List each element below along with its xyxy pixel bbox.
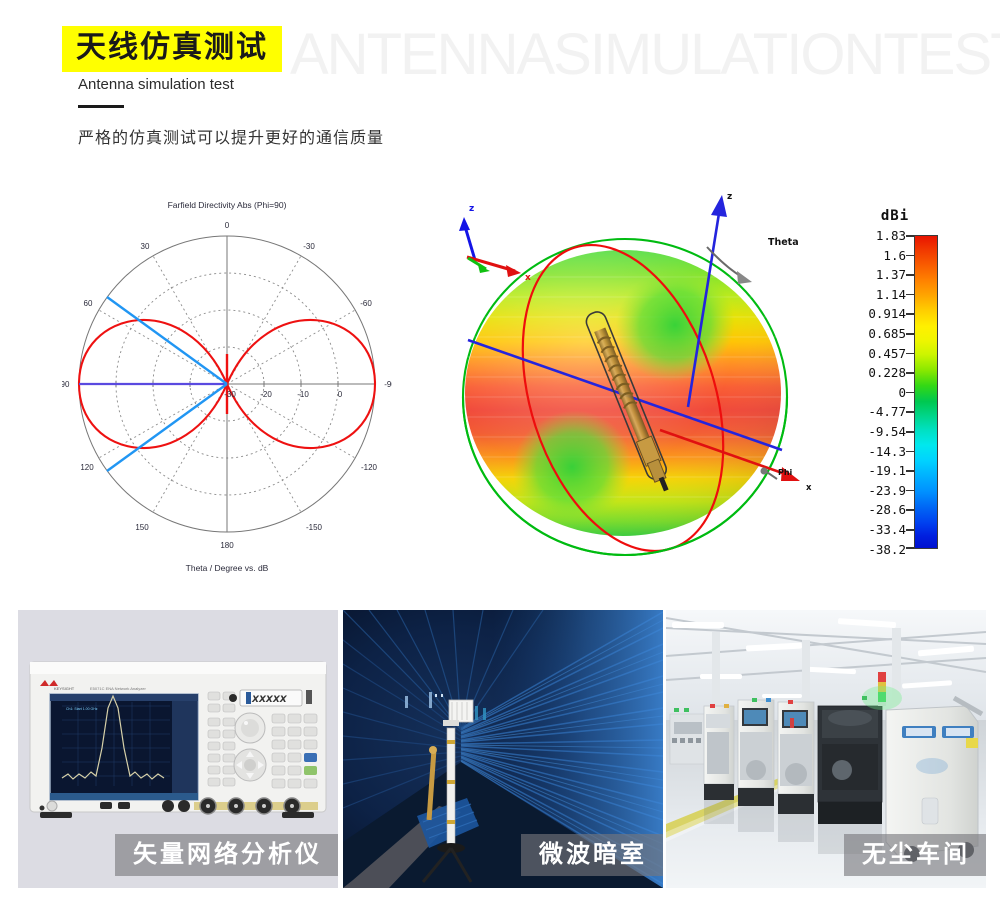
svg-text:0: 0 (225, 221, 230, 230)
svg-text:z: z (469, 204, 474, 214)
page-title: 天线仿真测试 (62, 26, 282, 72)
colorbar-title: dBi (852, 208, 938, 224)
svg-text:-30: -30 (224, 390, 236, 399)
svg-text:-10: -10 (297, 390, 309, 399)
polar-chart-title: Farfield Directivity Abs (Phi=90) (62, 200, 392, 210)
page-subtitle-english: Antenna simulation test (78, 76, 234, 93)
svg-text:180: 180 (220, 541, 234, 550)
svg-text:-60: -60 (360, 299, 372, 308)
svg-text:90: 90 (62, 380, 70, 389)
svg-text:0: 0 (338, 390, 343, 399)
title-divider (78, 105, 124, 108)
colorbar-tick: 1.37 (828, 269, 906, 289)
colorbar-tick: -19.1 (828, 465, 906, 485)
colorbar-tick: -4.77 (828, 406, 906, 426)
svg-text:60: 60 (84, 299, 93, 308)
colorbar-tick: 1.83 (828, 230, 906, 250)
svg-text:x: x (806, 483, 812, 493)
colorbar-tick: -38.2 (828, 544, 906, 564)
panel-caption: 无尘车间 (844, 834, 986, 876)
colorbar-tick: -33.4 (828, 524, 906, 544)
panel-vector-network-analyzer[interactable]: KEYSIGHT E5071C ENA Network Analyzer Ch1… (18, 610, 338, 888)
colorbar-tick: 0.685 (828, 328, 906, 348)
farfield-3d-pattern: z x z Theta (420, 185, 840, 590)
colorbar-tick: -9.54 (828, 426, 906, 446)
colorbar-gradient (914, 235, 938, 549)
svg-text:Theta: Theta (768, 237, 799, 248)
colorbar-tick: 0.228 (828, 367, 906, 387)
svg-text:-20: -20 (260, 390, 272, 399)
svg-text:30: 30 (141, 242, 150, 251)
svg-text:150: 150 (135, 523, 149, 532)
svg-text:120: 120 (80, 463, 94, 472)
page-description: 严格的仿真测试可以提升更好的通信质量 (78, 124, 384, 148)
svg-text:z: z (727, 192, 732, 202)
figures-row: Farfield Directivity Abs (Phi=90) (0, 180, 1000, 595)
panel-caption: 微波暗室 (521, 834, 663, 876)
svg-text:KEYSIGHT: KEYSIGHT (54, 686, 75, 691)
svg-text:Ch1: Start 1.00 GHz: Ch1: Start 1.00 GHz (66, 707, 98, 711)
svg-text:Phi: Phi (778, 468, 793, 477)
dbi-colorbar: dBi 1.83 1.6 1.37 1.14 0.914 0.685 0.457… (828, 208, 968, 573)
page-root: ANTENNASIMULATIONTEST 天线仿真测试 Antenna sim… (0, 0, 1000, 902)
panel-cleanroom-workshop[interactable]: 无尘车间 (666, 610, 986, 888)
header-watermark: ANTENNASIMULATIONTEST (290, 26, 1000, 84)
farfield-3d-svg: z x z Theta (420, 185, 840, 590)
svg-text:E5071C ENA Network Analyzer: E5071C ENA Network Analyzer (90, 686, 146, 691)
polar-chart-svg: 0 30 -30 60 -60 90 -90 120 -120 150 -150… (62, 214, 392, 554)
svg-text:-120: -120 (361, 463, 378, 472)
svg-text:-150: -150 (306, 523, 323, 532)
facility-photo-panels: KEYSIGHT E5071C ENA Network Analyzer Ch1… (0, 610, 1000, 890)
polar-chart-xlabel: Theta / Degree vs. dB (62, 563, 392, 573)
page-header: ANTENNASIMULATIONTEST 天线仿真测试 Antenna sim… (0, 0, 1000, 175)
polar-directivity-chart: Farfield Directivity Abs (Phi=90) (62, 200, 392, 575)
svg-text:-30: -30 (303, 242, 315, 251)
svg-text:-90: -90 (384, 380, 392, 389)
panel-caption: 矢量网络分析仪 (115, 834, 338, 876)
svg-text:XXXXX: XXXXX (251, 695, 288, 705)
coordinate-triad: z x (459, 204, 531, 283)
colorbar-tick-labels: 1.83 1.6 1.37 1.14 0.914 0.685 0.457 0.2… (828, 230, 906, 563)
colorbar-tick: -28.6 (828, 504, 906, 524)
panel-anechoic-chamber[interactable]: 微波暗室 (343, 610, 663, 888)
svg-text:x: x (525, 273, 531, 283)
